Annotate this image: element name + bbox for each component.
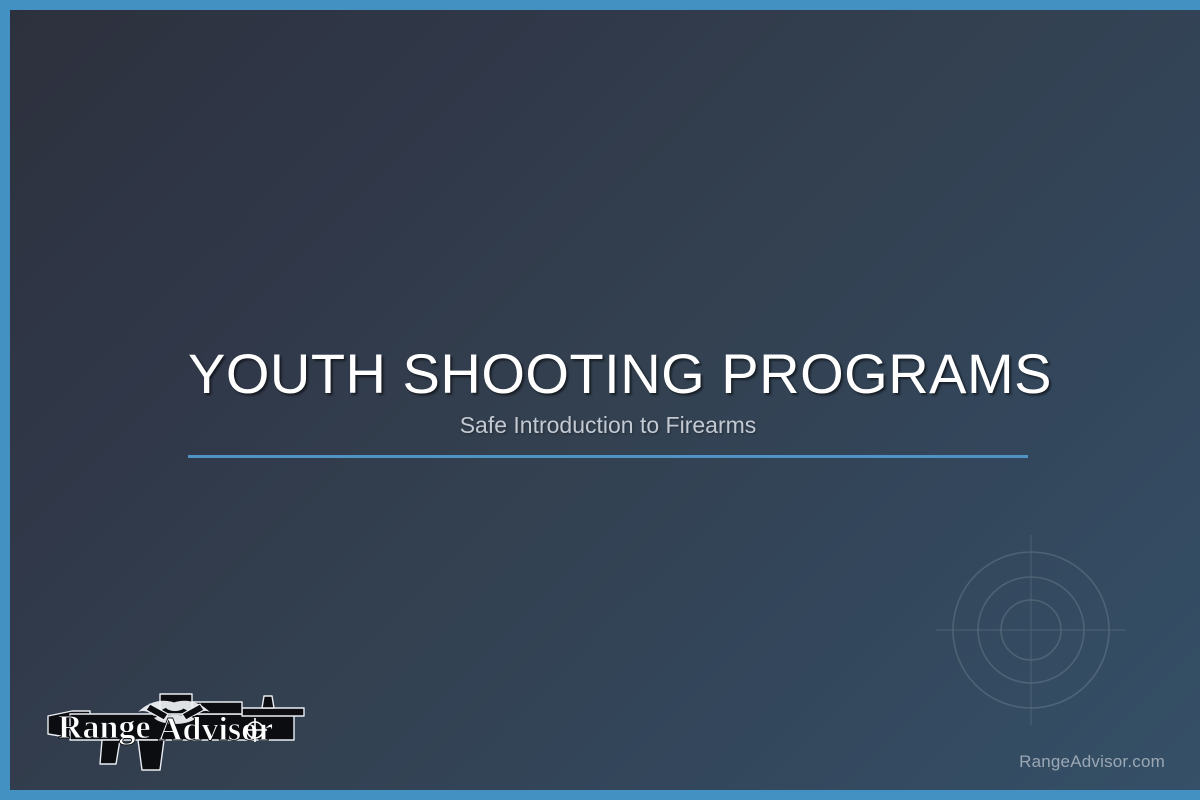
slide-canvas: YOUTH SHOOTING PROGRAMS Safe Introductio… [10,10,1200,790]
presentation-slide: YOUTH SHOOTING PROGRAMS Safe Introductio… [0,0,1200,800]
footer-url: RangeAdvisor.com [1019,752,1165,772]
slide-subtitle: Safe Introduction to Firearms [188,412,1028,439]
title-divider-rule [188,455,1028,458]
crosshair-target-icon [926,525,1136,735]
rangeadvisor-logo: Range Advisor [42,678,312,774]
logo-wordmark-primary: Range [58,709,151,746]
title-block: YOUTH SHOOTING PROGRAMS Safe Introductio… [188,344,1028,458]
slide-title: YOUTH SHOOTING PROGRAMS [188,344,1028,404]
